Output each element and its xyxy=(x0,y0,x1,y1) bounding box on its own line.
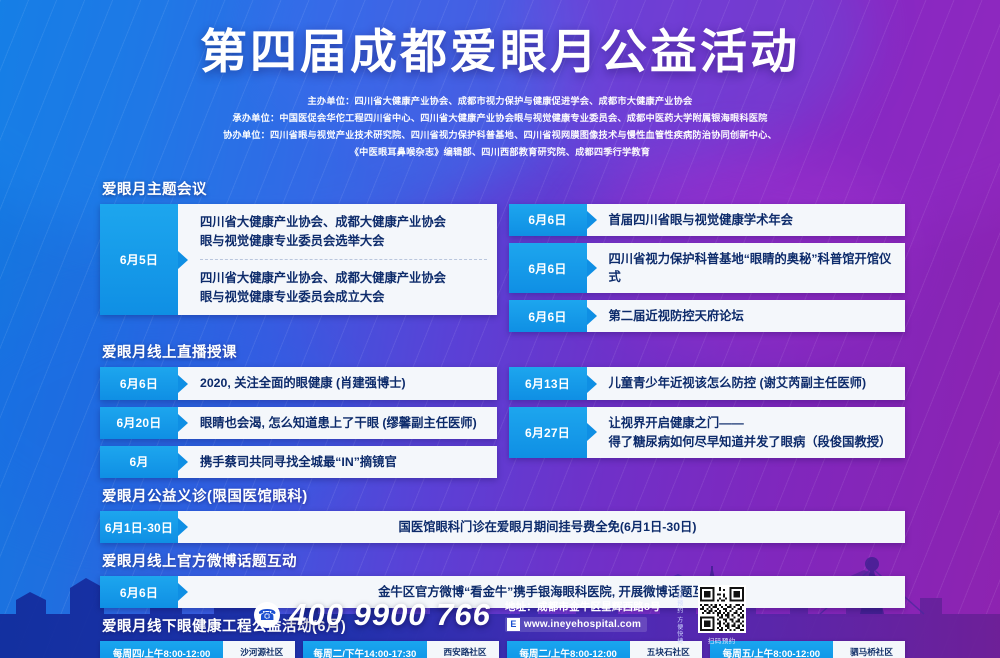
qr-side-note: 支持预约 方便快捷 xyxy=(675,586,684,645)
livestream-columns: 6月6日 2020, 关注全面的眼健康 (肖建强博士) 6月20日 眼睛也会渴,… xyxy=(100,367,905,478)
schedule-detail: 2020, 关注全面的眼健康 (肖建强博士) xyxy=(178,367,497,399)
date-chip: 6月13日 xyxy=(509,367,587,399)
date-chip: 6月 xyxy=(100,446,178,478)
date-chip: 6月6日 xyxy=(509,204,587,236)
website-url: www.ineyehospital.com xyxy=(524,619,641,630)
schedule-line: 携手蔡司共同寻找全城最“IN”摘镜官 xyxy=(200,453,487,471)
schedule-detail: 儿童青少年近视该怎么防控 (谢艾芮副主任医师) xyxy=(587,367,906,399)
schedule-line: 四川省大健康产业协会、成都大健康产业协会 xyxy=(200,213,487,231)
schedule-line: 眼与视觉健康专业委员会成立大会 xyxy=(200,288,487,306)
schedule-row[interactable]: 6月6日 首届四川省眼与视觉健康学术年会 xyxy=(509,204,906,236)
date-chip: 6月5日 xyxy=(100,204,178,316)
schedule-row[interactable]: 6月5日 四川省大健康产业协会、成都大健康产业协会 眼与视觉健康专业委员会选举大… xyxy=(100,204,497,316)
qr-block[interactable]: 扫码预约 xyxy=(698,585,746,645)
schedule-row[interactable]: 6月13日 儿童青少年近视该怎么防控 (谢艾芮副主任医师) xyxy=(509,367,906,399)
schedule-detail: 首届四川省眼与视觉健康学术年会 xyxy=(587,204,906,236)
poster-header: 第四届成都爱眼月公益活动 主办单位：四川省大健康产业协会、成都市视力保护与健康促… xyxy=(0,0,1000,161)
free-clinic-row[interactable]: 6月1日-30日 国医馆眼科门诊在爱眼月期间挂号费全免(6月1日-30日) xyxy=(100,511,905,543)
livestream-right-column: 6月13日 儿童青少年近视该怎么防控 (谢艾芮副主任医师) 6月27日 让视界开… xyxy=(509,367,906,478)
section-title-livestream: 爱眼月线上直播授课 xyxy=(102,341,905,362)
organizer-block: 主办单位：四川省大健康产业协会、成都市视力保护与健康促进学会、成都市大健康产业协… xyxy=(0,93,1000,161)
schedule-detail: 眼睛也会渴, 怎么知道患上了干眼 (缪馨副主任医师) xyxy=(178,407,497,439)
poster-footer: ☎ 400 9900 766 地址：成都市金牛区星辉西路8号 E www.ine… xyxy=(0,572,1000,658)
date-chip: 6月6日 xyxy=(509,300,587,332)
date-chip: 6月6日 xyxy=(100,367,178,399)
poster-root: 第四届成都爱眼月公益活动 主办单位：四川省大健康产业协会、成都市视力保护与健康促… xyxy=(0,0,1000,658)
organizer-line: 协办单位：四川省眼与视觉产业技术研究院、四川省视力保护科普基地、四川省视网膜图像… xyxy=(0,127,1000,144)
schedule-detail: 携手蔡司共同寻找全城最“IN”摘镜官 xyxy=(178,446,497,478)
organizer-line: 主办单位：四川省大健康产业协会、成都市视力保护与健康促进学会、成都市大健康产业协… xyxy=(0,93,1000,110)
qr-code-icon xyxy=(698,585,746,633)
schedule-line: 四川省视力保护科普基地“眼睛的奥秘”科普馆开馆仪式 xyxy=(609,250,896,286)
organizer-line: 《中医眼耳鼻喉杂志》编辑部、四川西部教育研究院、成都四季行学教育 xyxy=(0,144,1000,161)
hotline-number: 400 9900 766 xyxy=(289,597,491,633)
schedule-detail: 国医馆眼科门诊在爱眼月期间挂号费全免(6月1日-30日) xyxy=(178,511,905,543)
schedule-line: 让视界开启健康之门—— xyxy=(609,414,896,432)
date-chip: 6月1日-30日 xyxy=(100,511,178,543)
schedule-detail: 四川省视力保护科普基地“眼睛的奥秘”科普馆开馆仪式 xyxy=(587,243,906,293)
conference-right-column: 6月6日 首届四川省眼与视觉健康学术年会 6月6日 四川省视力保护科普基地“眼睛… xyxy=(509,204,906,333)
schedule-line: 儿童青少年近视该怎么防控 (谢艾芮副主任医师) xyxy=(609,374,896,392)
schedule-row[interactable]: 6月 携手蔡司共同寻找全城最“IN”摘镜官 xyxy=(100,446,497,478)
qr-caption: 扫码预约 xyxy=(708,635,736,645)
page-title: 第四届成都爱眼月公益活动 xyxy=(0,26,1000,79)
schedule-line: 2020, 关注全面的眼健康 (肖建强博士) xyxy=(200,374,487,392)
schedule-row[interactable]: 6月6日 四川省视力保护科普基地“眼睛的奥秘”科普馆开馆仪式 xyxy=(509,243,906,293)
schedule-segment: 四川省大健康产业协会、成都大健康产业协会 眼与视觉健康专业委员会成立大会 xyxy=(200,259,487,315)
schedule-line: 第二届近视防控天府论坛 xyxy=(609,307,896,325)
schedule-line: 国医馆眼科门诊在爱眼月期间挂号费全免(6月1日-30日) xyxy=(200,518,895,536)
section-title-free-clinic: 爱眼月公益义诊(限国医馆眼科) xyxy=(102,485,905,506)
schedule-line: 四川省大健康产业协会、成都大健康产业协会 xyxy=(200,269,487,287)
globe-icon: E xyxy=(507,618,520,631)
schedule-segment: 四川省大健康产业协会、成都大健康产业协会 眼与视觉健康专业委员会选举大会 xyxy=(200,204,487,259)
section-title-weibo: 爱眼月线上官方微博话题互动 xyxy=(102,550,905,571)
schedule-line: 眼与视觉健康专业委员会选举大会 xyxy=(200,232,487,250)
schedule-line: 首届四川省眼与视觉健康学术年会 xyxy=(609,211,896,229)
date-chip: 6月6日 xyxy=(509,243,587,293)
schedule-row[interactable]: 6月6日 第二届近视防控天府论坛 xyxy=(509,300,906,332)
organizer-line: 承办单位：中国医促会华佗工程四川省中心、四川省大健康产业协会眼与视觉健康专业委员… xyxy=(0,110,1000,127)
schedule-row[interactable]: 6月20日 眼睛也会渴, 怎么知道患上了干眼 (缪馨副主任医师) xyxy=(100,407,497,439)
conference-left-column: 6月5日 四川省大健康产业协会、成都大健康产业协会 眼与视觉健康专业委员会选举大… xyxy=(100,204,497,333)
date-chip: 6月20日 xyxy=(100,407,178,439)
contact-block: 地址：成都市金牛区星辉西路8号 E www.ineyehospital.com xyxy=(505,599,661,632)
schedule-line: 眼睛也会渴, 怎么知道患上了干眼 (缪馨副主任医师) xyxy=(200,414,487,432)
hotline-block[interactable]: ☎ 400 9900 766 xyxy=(254,597,491,633)
conference-columns: 6月5日 四川省大健康产业协会、成都大健康产业协会 眼与视觉健康专业委员会选举大… xyxy=(100,204,905,333)
schedule-detail: 第二届近视防控天府论坛 xyxy=(587,300,906,332)
schedule-detail: 让视界开启健康之门—— 得了糖尿病如何尽早知道并发了眼病（段俊国教授） xyxy=(587,407,906,458)
schedule-row[interactable]: 6月6日 2020, 关注全面的眼健康 (肖建强博士) xyxy=(100,367,497,399)
schedule-line: 得了糖尿病如何尽早知道并发了眼病（段俊国教授） xyxy=(609,433,896,451)
livestream-left-column: 6月6日 2020, 关注全面的眼健康 (肖建强博士) 6月20日 眼睛也会渴,… xyxy=(100,367,497,478)
phone-icon: ☎ xyxy=(254,602,280,628)
website-row[interactable]: E www.ineyehospital.com xyxy=(505,617,647,632)
schedule-row[interactable]: 6月27日 让视界开启健康之门—— 得了糖尿病如何尽早知道并发了眼病（段俊国教授… xyxy=(509,407,906,458)
address-text: 地址：成都市金牛区星辉西路8号 xyxy=(505,599,661,614)
date-chip: 6月27日 xyxy=(509,407,587,458)
schedule-detail: 四川省大健康产业协会、成都大健康产业协会 眼与视觉健康专业委员会选举大会 四川省… xyxy=(178,204,497,316)
section-title-conference: 爱眼月主题会议 xyxy=(102,178,905,199)
